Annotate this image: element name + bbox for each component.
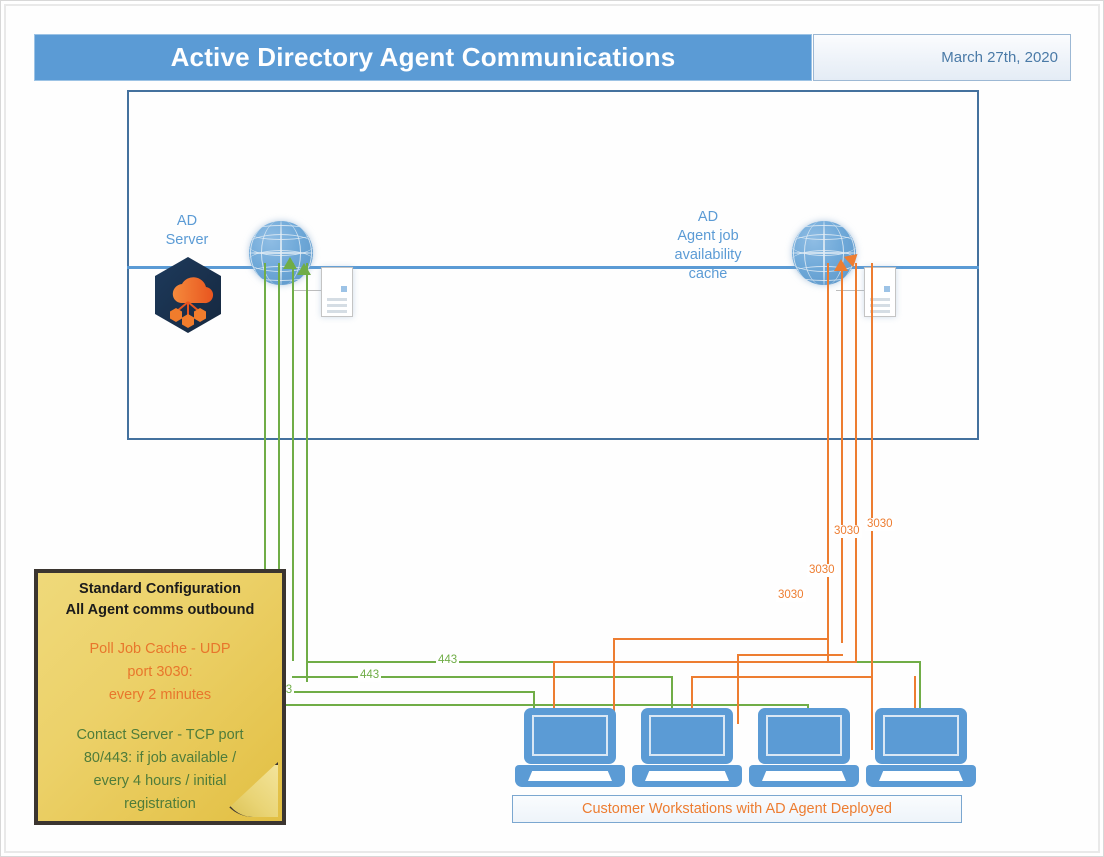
tcp-arrow <box>297 263 311 275</box>
port-label-443: 443 <box>436 654 459 667</box>
port-label-443: 443 <box>358 669 381 682</box>
port-label-3030: 3030 <box>807 564 837 577</box>
udp-line <box>613 638 829 640</box>
udp-line <box>691 676 873 678</box>
note-line-1: Standard Configuration <box>52 579 268 600</box>
port-label-3030: 3030 <box>865 518 895 531</box>
workstations-caption: Customer Workstations with AD Agent Depl… <box>582 801 892 817</box>
udp-line <box>827 263 829 663</box>
page-title: Active Directory Agent Communications <box>171 42 676 73</box>
workstation-laptop <box>632 708 742 788</box>
note-udp-text: Poll Job Cache - UDP port 3030: every 2 … <box>52 638 268 707</box>
udp-arrow <box>834 259 848 271</box>
udp-line <box>841 263 843 643</box>
diagram-title-bar: Active Directory Agent Communications <box>34 34 812 81</box>
tcp-line <box>292 676 673 678</box>
tcp-line <box>278 691 535 693</box>
ad-cloud-hexagon-icon <box>153 256 223 334</box>
diagram-canvas: Active Directory Agent Communications Ma… <box>0 0 1104 857</box>
udp-line <box>855 263 857 661</box>
date-text: March 27th, 2020 <box>941 49 1058 66</box>
port-label-3030: 3030 <box>832 525 862 538</box>
configuration-note: Standard Configuration All Agent comms o… <box>34 569 286 825</box>
workstation-laptop <box>866 708 976 788</box>
date-box: March 27th, 2020 <box>813 34 1071 81</box>
workstations-caption-box: Customer Workstations with AD Agent Depl… <box>512 795 962 823</box>
tcp-arrow <box>283 257 297 269</box>
port-label-3030: 3030 <box>776 589 806 602</box>
udp-line <box>553 661 857 663</box>
globe-icon <box>249 221 313 285</box>
udp-line <box>737 654 843 656</box>
ad-cache-label: AD Agent job availability cache <box>651 208 765 284</box>
server-card-icon <box>864 267 896 317</box>
tcp-line <box>264 704 809 706</box>
tcp-line <box>306 263 308 682</box>
note-line-2: All Agent comms outbound <box>52 600 268 621</box>
workstation-laptop <box>515 708 625 788</box>
server-card-icon <box>321 267 353 317</box>
ad-server-label: AD Server <box>141 212 233 250</box>
tcp-line <box>292 263 294 661</box>
workstation-laptop <box>749 708 859 788</box>
